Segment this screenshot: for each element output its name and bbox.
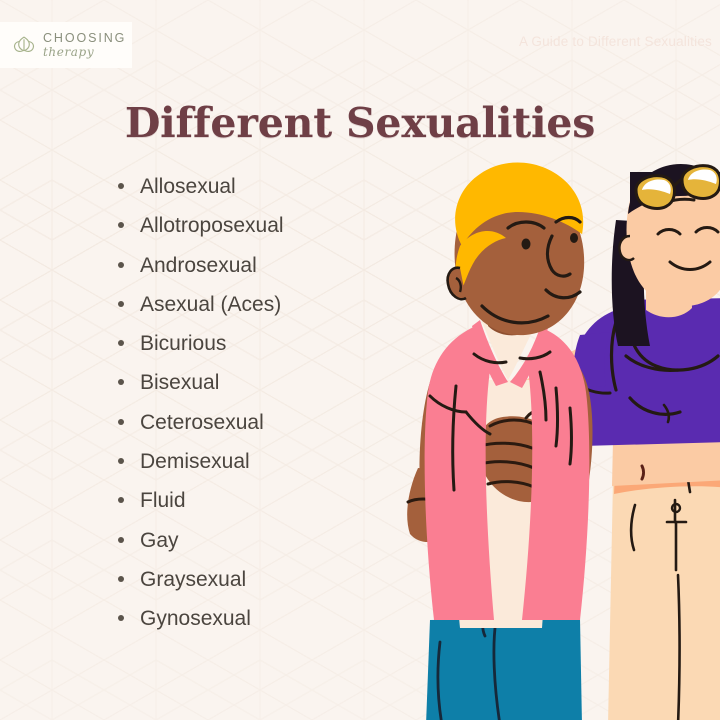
bullet-icon: [118, 301, 124, 307]
bullet-icon: [118, 419, 124, 425]
list-item-label: Allosexual: [140, 175, 236, 198]
list-item-label: Asexual (Aces): [140, 293, 281, 316]
list-item-label: Demisexual: [140, 450, 250, 473]
list-item-label: Allotroposexual: [140, 214, 284, 237]
list-item-label: Androsexual: [140, 254, 257, 277]
bullet-icon: [118, 615, 124, 621]
list-item-label: Fluid: [140, 489, 186, 512]
bullet-icon: [118, 379, 124, 385]
bullet-icon: [118, 340, 124, 346]
infographic-canvas: CHOOSING therapy A Guide to Different Se…: [0, 0, 720, 720]
brand-name: CHOOSING: [43, 32, 126, 45]
bullet-icon: [118, 497, 124, 503]
page-title: Different Sexualities: [0, 99, 720, 147]
bullet-icon: [118, 576, 124, 582]
person-left: [407, 163, 592, 720]
lotus-leaf-icon: [10, 31, 38, 59]
bullet-icon: [118, 458, 124, 464]
bullet-icon: [118, 222, 124, 228]
list-item-label: Ceterosexual: [140, 411, 264, 434]
bullet-icon: [118, 183, 124, 189]
list-item-label: Bisexual: [140, 371, 219, 394]
brand-tagline: therapy: [43, 46, 126, 58]
brand-logo[interactable]: CHOOSING therapy: [0, 22, 132, 68]
list-item-label: Gay: [140, 529, 179, 552]
two-people-embracing-illustration: [330, 150, 720, 720]
list-item-label: Bicurious: [140, 332, 226, 355]
bullet-icon: [118, 537, 124, 543]
list-item-label: Gynosexual: [140, 607, 251, 630]
list-item-label: Graysexual: [140, 568, 246, 591]
bullet-icon: [118, 262, 124, 268]
guide-subtitle: A Guide to Different Sexualities: [519, 34, 712, 49]
